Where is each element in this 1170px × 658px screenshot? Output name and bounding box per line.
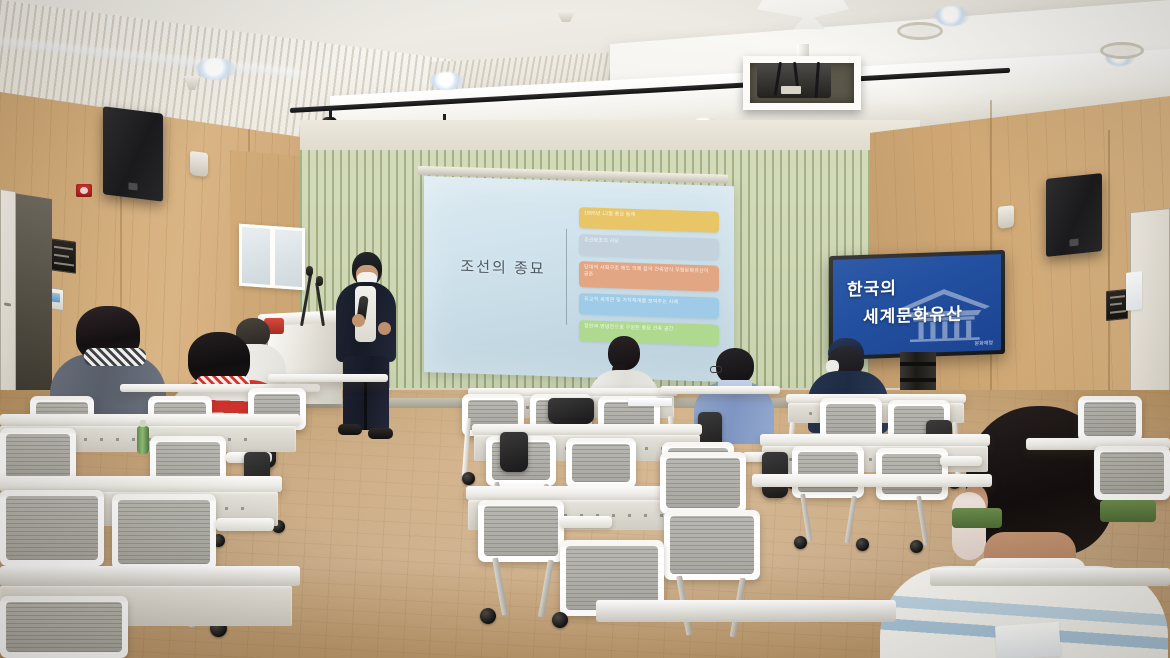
slide-bar: 1995년 12월 종묘 등재 [579, 207, 719, 233]
room-sign-left [50, 238, 76, 274]
slide-bar: 조선왕조의 사당 [579, 234, 719, 260]
ceiling-projector [735, 0, 875, 120]
chair[interactable] [566, 438, 636, 488]
control-panel-right[interactable] [1106, 289, 1128, 321]
downlight-icon [935, 6, 969, 26]
chair-caster [480, 608, 496, 624]
chair[interactable] [112, 494, 216, 570]
monitor-title-line1: 한국의 [847, 274, 897, 301]
wall-speaker-small-right [998, 205, 1014, 229]
chair-caster [462, 472, 475, 485]
wall-speaker-left [103, 106, 163, 201]
desk [660, 386, 780, 394]
chair[interactable] [1094, 446, 1170, 500]
monitor-title-line2: 세계문화유산 [863, 299, 963, 327]
chair[interactable] [0, 596, 128, 658]
chair[interactable] [0, 490, 104, 566]
presenter-shoe-right [368, 428, 393, 439]
chair-armrest [940, 456, 982, 466]
slide-title: 조선의 종묘 [448, 255, 558, 280]
chair-caster [794, 536, 807, 549]
slide-divider [566, 229, 567, 325]
window [239, 224, 305, 291]
chair[interactable] [478, 500, 564, 562]
chair-caster [552, 612, 568, 628]
desk [760, 434, 990, 446]
fire-alarm-icon [76, 184, 92, 197]
ring-light-icon [897, 22, 943, 40]
ring-light-icon [1100, 42, 1144, 59]
door-left[interactable] [0, 189, 16, 418]
desk-front-edge [930, 568, 1170, 586]
slide-bar: 유교적 세계관 및 가치체계를 보여주는 사례 [579, 293, 719, 319]
downlight-icon [196, 58, 236, 80]
chair[interactable] [660, 452, 746, 514]
notice-poster-right [1126, 271, 1142, 311]
lecture-room-photo: 조선의 종묘 1995년 12월 종묘 등재 조선왕조의 사당 당대의 사회구조… [0, 0, 1170, 658]
microphone-head-icon [316, 276, 323, 286]
presenter-leg-split [364, 378, 367, 430]
slide-bar-list: 1995년 12월 종묘 등재 조선왕조의 사당 당대의 사회구조 제도 의례 … [579, 207, 719, 352]
chair-caster [910, 540, 923, 553]
water-bottle [137, 426, 149, 454]
chair[interactable] [664, 510, 760, 580]
seat-cushion [952, 508, 1002, 528]
wall-speaker-small-left [190, 151, 208, 177]
desk [752, 474, 992, 487]
chair-caster [856, 538, 869, 551]
glasses-icon [710, 366, 722, 373]
microphone-head-icon [306, 266, 313, 276]
wall-speaker-right [1046, 173, 1102, 257]
slide-bar: 당대의 사회구조 제도 의례 음악 건축양식 무형문화유산이 공존 [579, 261, 719, 292]
attendee-patterned-collar [84, 348, 146, 366]
presenter-hand-right [378, 322, 391, 335]
presenter [330, 252, 400, 440]
wall-right-seam [1108, 130, 1110, 430]
handout [628, 398, 672, 406]
desk-front-edge [596, 600, 896, 622]
attendee-head [716, 348, 754, 384]
bag [500, 432, 528, 472]
desk [0, 414, 300, 426]
downlight-icon [430, 72, 464, 90]
chair-armrest [560, 516, 612, 528]
presenter-shoe-left [338, 424, 362, 435]
seat-cushion [1100, 500, 1156, 522]
bag [548, 398, 594, 424]
open-doorway-left [12, 193, 52, 411]
monitor-logo: 문화재청 [975, 339, 993, 347]
desk [268, 374, 388, 382]
handout [995, 622, 1061, 658]
chair[interactable] [1078, 396, 1142, 442]
chair[interactable] [792, 446, 864, 498]
projection-screen: 조선의 종묘 1995년 12월 종묘 등재 조선왕조의 사당 당대의 사회구조… [424, 176, 734, 382]
projector-label [781, 86, 801, 94]
spotlight-icon [322, 108, 338, 117]
desk-front-edge [0, 566, 300, 586]
chair-armrest [216, 518, 274, 531]
presenter-hand-left [352, 314, 365, 327]
